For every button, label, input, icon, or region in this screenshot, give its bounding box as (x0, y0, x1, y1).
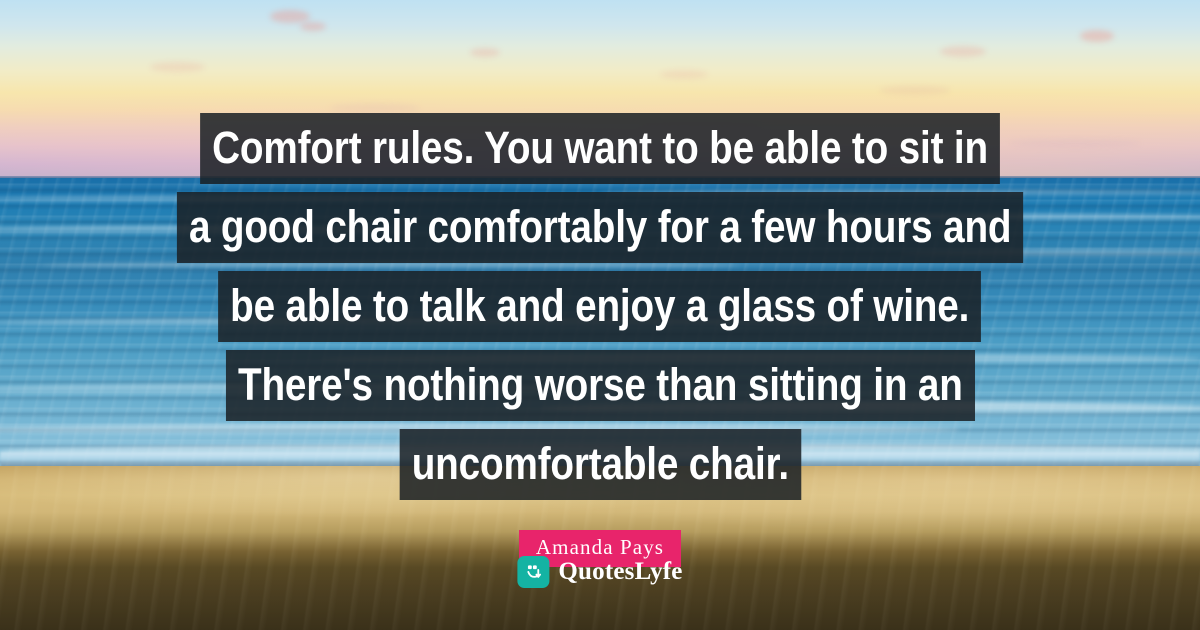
quote-line-1: Comfort rules. You want to be able to si… (200, 113, 1000, 184)
quote-line-4: There's nothing worse than sitting in an (226, 350, 975, 421)
quote-line-2: a good chair comfortably for a few hours… (177, 192, 1024, 263)
quote-text-block: Comfort rules. You want to be able to si… (70, 113, 1130, 567)
quote-line-5: uncomfortable chair. (399, 429, 800, 500)
quote-line-3: be able to talk and enjoy a glass of win… (218, 271, 981, 342)
quoteslyfe-logo[interactable]: QuotesLyfe (517, 556, 682, 588)
card-content: Comfort rules. You want to be able to si… (0, 0, 1200, 630)
quote-marks-icon (517, 556, 549, 588)
logo-wordmark: QuotesLyfe (558, 558, 682, 586)
quote-card: Comfort rules. You want to be able to si… (0, 0, 1200, 630)
